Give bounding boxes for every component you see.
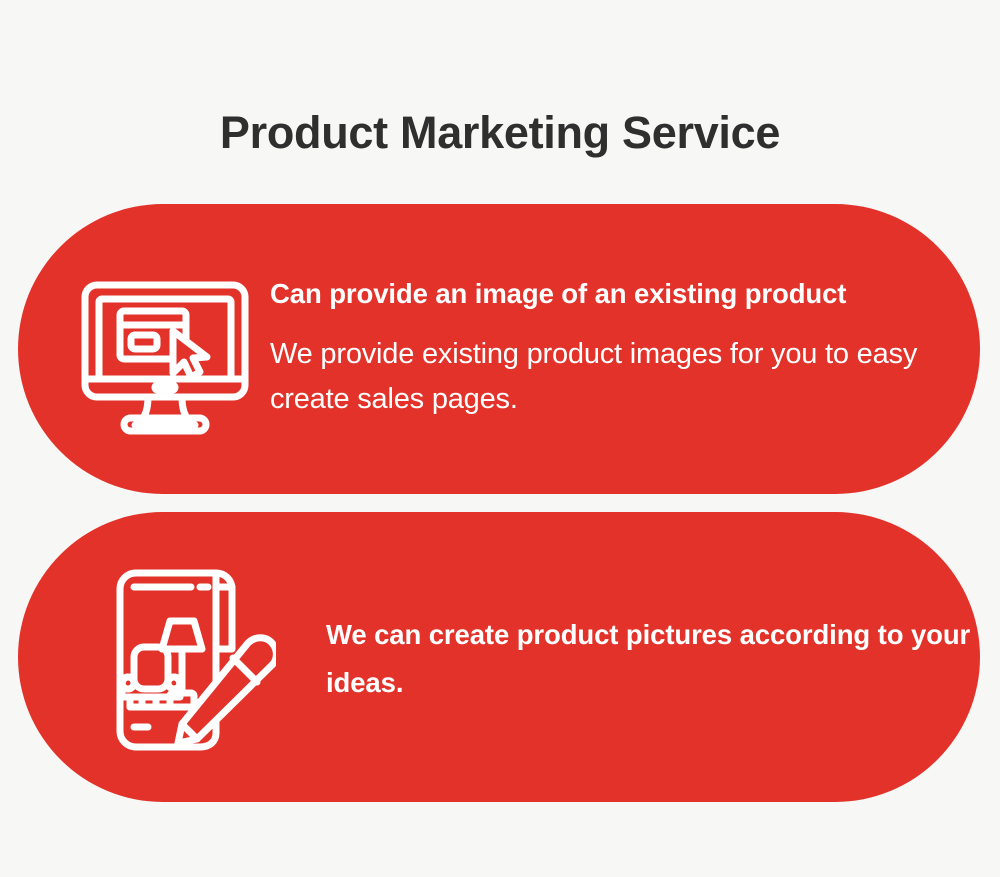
feature-card-existing-product[interactable]: Can provide an image of an existing prod… <box>18 204 980 494</box>
card-body: We can create product pictures according… <box>326 611 976 707</box>
monitor-product-image-icon <box>80 265 250 435</box>
feature-card-text: We can create product pictures according… <box>326 607 980 707</box>
page-title: Product Marketing Service <box>0 104 1000 162</box>
infographic-page: Product Marketing Service <box>0 0 1000 877</box>
sketch-pencil-furniture-icon <box>98 565 276 755</box>
card-body: We provide existing product images for y… <box>270 332 920 422</box>
card-heading: Can provide an image of an existing prod… <box>270 277 980 311</box>
feature-card-text: Can provide an image of an existing prod… <box>270 277 980 422</box>
feature-card-custom-product[interactable]: We can create product pictures according… <box>18 512 980 802</box>
